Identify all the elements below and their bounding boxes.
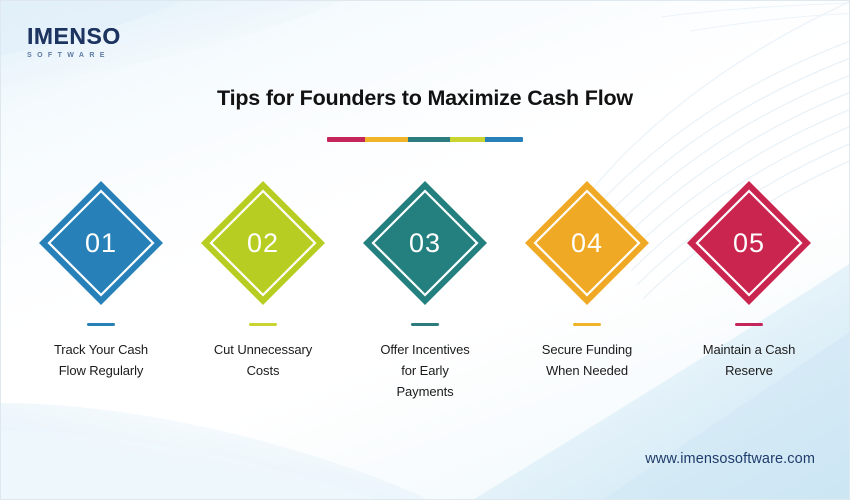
diamond-shape-5: 05 (683, 177, 815, 309)
diamond-number-2: 02 (197, 177, 329, 309)
diamond-shape-4: 04 (521, 177, 653, 309)
brand-name: IMENSO (27, 25, 207, 48)
card-accent-rule-3 (411, 323, 439, 326)
card-accent-rule-1 (87, 323, 115, 326)
card-accent-rule-5 (735, 323, 763, 326)
page-title: Tips for Founders to Maximize Cash Flow (1, 86, 849, 111)
title-divider (327, 137, 523, 142)
diamond-number-1: 01 (35, 177, 167, 309)
divider-segment-3 (408, 137, 450, 142)
card-label-5: Maintain a Cash Reserve (703, 339, 795, 381)
diamond-shape-2: 02 (197, 177, 329, 309)
brand-logo: IMENSO SOFTWARE (27, 25, 207, 59)
tip-card-3[interactable]: 03 Offer Incentives for Early Payments (347, 177, 503, 402)
diamond-number-3: 03 (359, 177, 491, 309)
divider-segment-2 (365, 137, 407, 142)
divider-segment-1 (327, 137, 365, 142)
card-label-2: Cut Unnecessary Costs (214, 339, 312, 381)
brand-tagline: SOFTWARE (27, 52, 207, 59)
card-label-3: Offer Incentives for Early Payments (380, 339, 469, 402)
tip-card-2[interactable]: 02 Cut Unnecessary Costs (185, 177, 341, 402)
infographic-canvas: IMENSO SOFTWARE Tips for Founders to Max… (0, 0, 850, 500)
diamond-number-5: 05 (683, 177, 815, 309)
diamond-shape-1: 01 (35, 177, 167, 309)
diamond-shape-3: 03 (359, 177, 491, 309)
divider-segment-4 (450, 137, 485, 142)
card-accent-rule-4 (573, 323, 601, 326)
card-accent-rule-2 (249, 323, 277, 326)
diamond-number-4: 04 (521, 177, 653, 309)
footer-website-url[interactable]: www.imensosoftware.com (645, 451, 815, 467)
tip-card-4[interactable]: 04 Secure Funding When Needed (509, 177, 665, 402)
tip-card-1[interactable]: 01 Track Your Cash Flow Regularly (23, 177, 179, 402)
card-label-1: Track Your Cash Flow Regularly (54, 339, 148, 381)
card-label-4: Secure Funding When Needed (542, 339, 632, 381)
tips-list: 01 Track Your Cash Flow Regularly 02 Cut… (23, 177, 827, 402)
divider-segment-5 (485, 137, 523, 142)
tip-card-5[interactable]: 05 Maintain a Cash Reserve (671, 177, 827, 402)
